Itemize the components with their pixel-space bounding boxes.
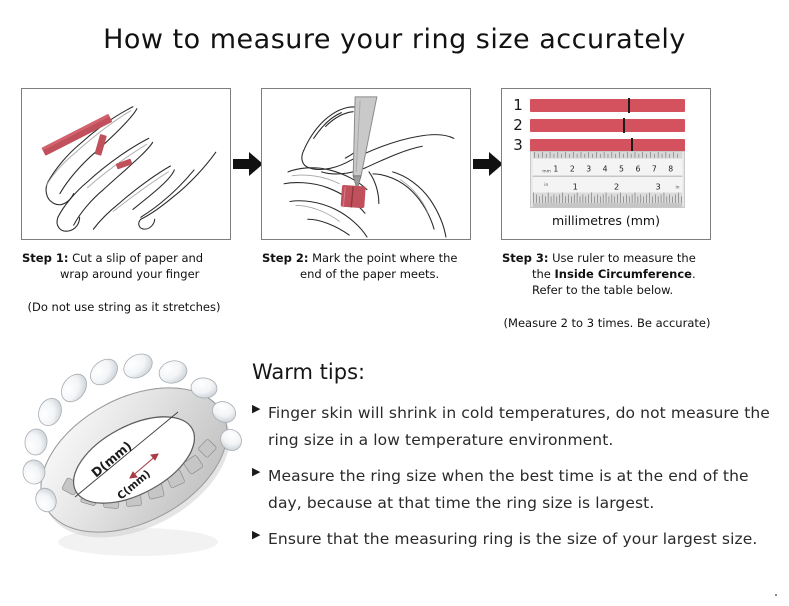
step-2-caption-line1: Mark the point where the — [312, 251, 457, 265]
hand-with-paper-strip-illustration — [22, 89, 230, 239]
tip-item: ▶ Finger skin will shrink in cold temper… — [252, 400, 772, 454]
paper-strip-wrapped-lower — [116, 159, 133, 170]
step-2-caption: Step 2: Mark the point where the end of … — [261, 250, 473, 282]
step-3-column: 1 2 3 — [501, 88, 713, 331]
step-2-column: Step 2: Mark the point where the end of … — [261, 88, 473, 282]
svg-text:5: 5 — [619, 164, 624, 173]
strip-mark-2 — [623, 118, 625, 133]
step-3-caption-line1: Use ruler to measure the — [552, 251, 696, 265]
ring-diagram: D(mm) C(mm) — [18, 352, 250, 577]
step-1-label: Step 1: — [22, 251, 68, 265]
step-1-caption-line2: wrap around your finger — [22, 266, 233, 282]
bottom-section: D(mm) C(mm) Warm tips: ▶ Finger skin wil… — [0, 346, 789, 606]
step-1-caption-line1: Cut a slip of paper and — [72, 251, 203, 265]
strip-bar-2 — [530, 119, 685, 132]
svg-text:3: 3 — [586, 164, 591, 173]
svg-text:4: 4 — [603, 164, 608, 173]
arrow-step2-to-step3 — [473, 150, 503, 178]
svg-text:3: 3 — [656, 182, 661, 192]
strip-number-3: 3 — [510, 139, 526, 152]
tip-item: ▶ Ensure that the measuring ring is the … — [252, 526, 772, 553]
step-3-caption-line2-suffix: . — [692, 267, 696, 281]
svg-text:2: 2 — [570, 164, 575, 173]
step-3-caption-line2: the Inside Circumference. — [502, 266, 713, 282]
step-3-caption-emphasis: Inside Circumference — [555, 267, 692, 281]
paper-strip-wrapped-upper — [95, 134, 107, 156]
step-1-caption: Step 1: Cut a slip of paper and wrap aro… — [21, 250, 233, 282]
step-3-panel: 1 2 3 — [501, 88, 711, 240]
step-3-caption-line2-prefix: the — [532, 267, 555, 281]
svg-text:1: 1 — [573, 182, 578, 192]
bullet-triangle-icon: ▶ — [252, 463, 268, 477]
step-2-caption-line2: end of the paper meets. — [262, 266, 473, 282]
strip-number-2: 2 — [510, 119, 526, 132]
svg-text:8: 8 — [668, 164, 673, 173]
strip-row-1: 1 — [502, 99, 710, 112]
svg-text:2: 2 — [614, 182, 619, 192]
bullet-triangle-icon: ▶ — [252, 526, 268, 540]
page-title: How to measure your ring size accurately — [0, 24, 789, 55]
ruler-unit-label: millimetres (mm) — [502, 213, 710, 228]
step-3-label: Step 3: — [502, 251, 548, 265]
tip-item: ▶ Measure the ring size when the best ti… — [252, 463, 772, 517]
warm-tips-heading: Warm tips: — [252, 360, 772, 384]
svg-text:6: 6 — [635, 164, 640, 173]
strip-number-1: 1 — [510, 99, 526, 112]
hand-marking-paper-illustration — [262, 89, 470, 239]
ruler-graphic: 1 2 3 4 5 6 7 8 mm — [530, 151, 685, 208]
steps-row: Step 1: Cut a slip of paper and wrap aro… — [0, 88, 789, 338]
tip-text-2: Measure the ring size when the best time… — [268, 463, 772, 517]
step-3-caption-line3: Refer to the table below. — [502, 282, 713, 298]
pen — [353, 97, 377, 190]
svg-text:mm: mm — [542, 169, 550, 174]
step-2-panel — [261, 88, 471, 240]
svg-text:7: 7 — [652, 164, 657, 173]
strip-row-2: 2 — [502, 119, 710, 132]
arrow-step1-to-step2 — [233, 150, 263, 178]
svg-text:in: in — [676, 185, 680, 191]
tip-text-1: Finger skin will shrink in cold temperat… — [268, 400, 772, 454]
step-1-note: (Do not use string as it stretches) — [21, 300, 233, 315]
warm-tips-block: Warm tips: ▶ Finger skin will shrink in … — [252, 360, 772, 562]
tip-text-3: Ensure that the measuring ring is the si… — [268, 526, 772, 553]
strip-mark-1 — [628, 98, 630, 113]
step-3-caption: Step 3: Use ruler to measure the the Ins… — [501, 250, 713, 298]
bullet-triangle-icon: ▶ — [252, 400, 268, 414]
svg-text:in: in — [544, 182, 548, 188]
paper-strip-around-finger — [341, 185, 366, 208]
step-1-column: Step 1: Cut a slip of paper and wrap aro… — [21, 88, 233, 315]
step-1-panel — [21, 88, 231, 240]
strip-bar-1 — [530, 99, 685, 112]
measured-strips-group: 1 2 3 — [502, 89, 710, 239]
step-2-label: Step 2: — [262, 251, 308, 265]
svg-text:1: 1 — [553, 164, 558, 173]
corner-artifact-dot — [775, 594, 777, 596]
step-3-note: (Measure 2 to 3 times. Be accurate) — [501, 316, 713, 331]
